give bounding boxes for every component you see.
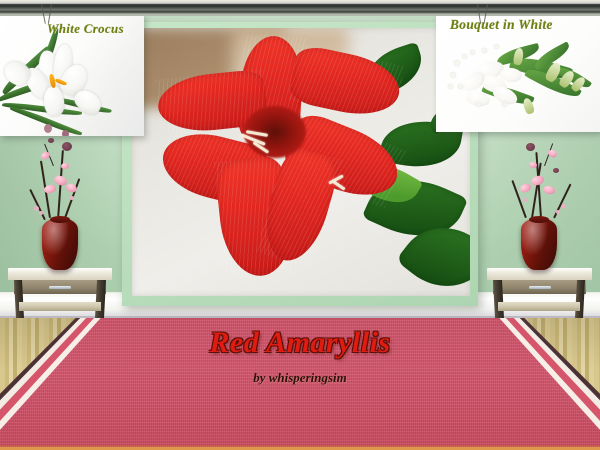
bud-left-1 bbox=[34, 206, 39, 211]
picture-bouquet-in-white[interactable]: Bouquet in White bbox=[436, 14, 600, 132]
blossom-right-dark-2 bbox=[553, 168, 559, 173]
blossom-left-dark-2 bbox=[48, 138, 54, 143]
room-scene: White Crocus bbox=[0, 0, 600, 450]
table-leg-right-front bbox=[493, 280, 504, 318]
bud-right-1 bbox=[561, 204, 566, 209]
picture-rail bbox=[0, 0, 600, 16]
bud-left-2 bbox=[39, 211, 43, 215]
vase-lip-right bbox=[529, 216, 549, 223]
picture-label-bouquet: Bouquet in White bbox=[450, 17, 553, 33]
drawer-handle-left bbox=[49, 286, 71, 289]
amaryllis-photo bbox=[132, 28, 470, 296]
blossom-left-dark-1 bbox=[62, 142, 72, 151]
bouquet-filler-2 bbox=[462, 54, 467, 59]
bouquet-filler-10 bbox=[502, 102, 507, 107]
vase-left bbox=[42, 218, 78, 270]
bouquet-filler-8 bbox=[448, 84, 453, 89]
bouquet-filler-5 bbox=[458, 84, 463, 89]
bouquet-filler-6 bbox=[482, 48, 487, 53]
rail-highlight bbox=[0, 2, 600, 4]
bud-right-3 bbox=[524, 198, 528, 202]
bouquet-filler-7 bbox=[494, 44, 499, 49]
bouquet-filler-9 bbox=[476, 102, 481, 107]
table-shelf-left bbox=[19, 302, 101, 311]
bud-left-3 bbox=[70, 196, 74, 200]
crocus-bud-1 bbox=[44, 124, 52, 133]
page-title: Red Amaryllis bbox=[0, 326, 600, 360]
bouquet-filler-3 bbox=[470, 50, 475, 55]
bud-right-2 bbox=[556, 210, 560, 214]
vase-right bbox=[521, 218, 557, 270]
picture-white-crocus[interactable]: White Crocus bbox=[0, 14, 144, 136]
byline: by whisperingsim bbox=[0, 370, 600, 386]
table-shelf-right bbox=[498, 302, 580, 311]
crocus-bud-2 bbox=[62, 130, 69, 136]
vase-lip-left bbox=[50, 216, 70, 223]
blossom-right-dark-1 bbox=[526, 143, 535, 151]
bouquet-filler-4 bbox=[450, 72, 456, 78]
picture-label-crocus: White Crocus bbox=[47, 21, 124, 37]
bouquet-filler-1 bbox=[454, 60, 460, 66]
drawer-handle-right bbox=[529, 286, 551, 289]
picture-amaryllis[interactable] bbox=[122, 22, 478, 306]
